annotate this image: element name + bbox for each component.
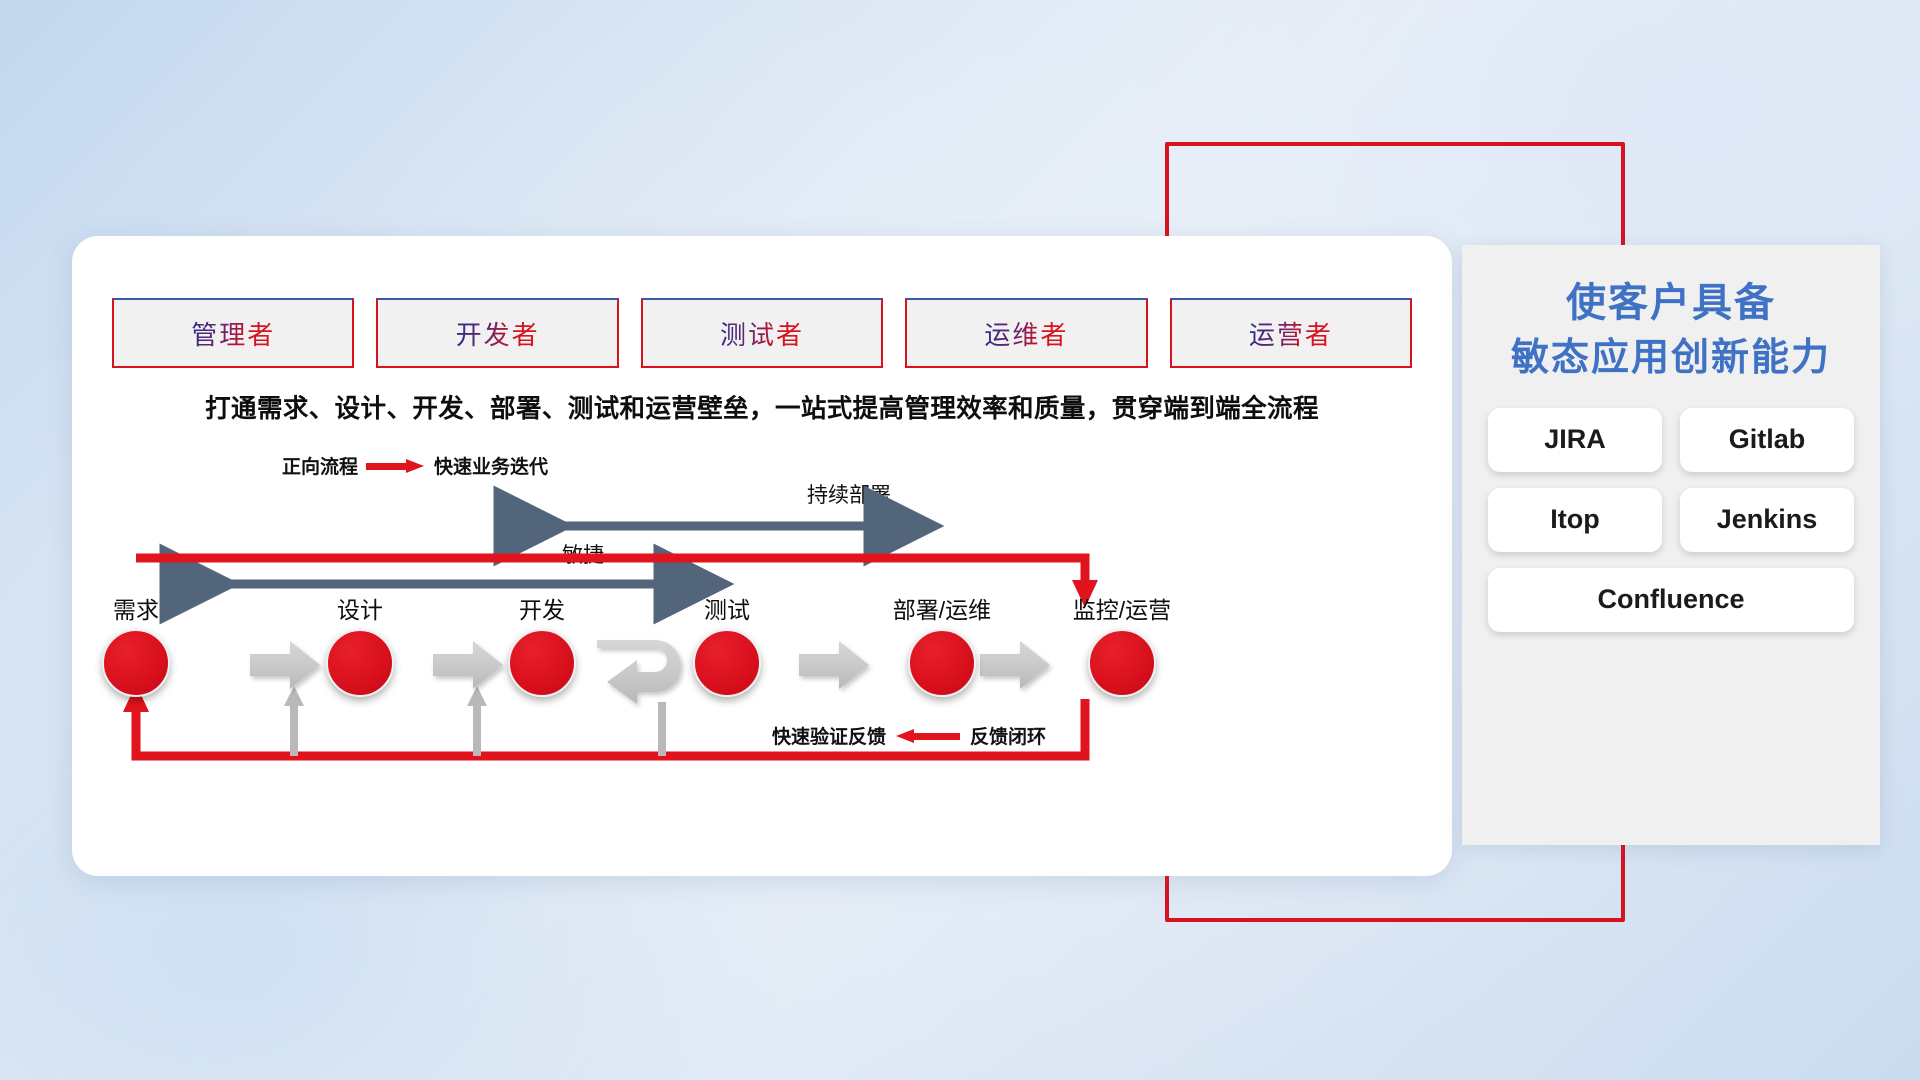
band-label-continuous-deployment: 持续部署 — [807, 479, 891, 509]
legend-forward-right-label: 快速业务迭代 — [434, 452, 548, 479]
stage-monitor-operations[interactable]: 监控/运营 — [1042, 591, 1202, 697]
stage-label: 设计 — [280, 591, 440, 625]
role-label: 开发者 — [456, 315, 540, 352]
role-label: 运营者 — [1249, 315, 1333, 352]
stage-label: 部署/运维 — [862, 591, 1022, 625]
arrow-left-red-icon — [896, 729, 960, 743]
legend-forward-flow: 正向流程 快速业务迭代 — [282, 452, 548, 479]
tool-chip-jira[interactable]: JIRA — [1488, 408, 1662, 472]
tool-chip-itop[interactable]: Itop — [1488, 488, 1662, 552]
legend-feedback-left-label: 快速验证反馈 — [772, 722, 886, 749]
stage-dot-icon — [508, 629, 576, 697]
role-box-tester[interactable]: 测试者 — [641, 298, 883, 368]
tool-chip-jenkins[interactable]: Jenkins — [1680, 488, 1854, 552]
tool-chip-list: JIRA Gitlab Itop Jenkins Confluence — [1488, 408, 1854, 632]
role-box-ops[interactable]: 运维者 — [905, 298, 1147, 368]
legend-feedback-loop: 快速验证反馈 反馈闭环 — [772, 722, 1046, 749]
stage-label: 监控/运营 — [1042, 591, 1202, 625]
role-box-manager[interactable]: 管理者 — [112, 298, 354, 368]
tool-chip-confluence[interactable]: Confluence — [1488, 568, 1854, 632]
role-label: 运维者 — [984, 315, 1068, 352]
stage-label: 开发 — [462, 591, 622, 625]
stage-development[interactable]: 开发 — [462, 591, 622, 697]
tools-panel-title: 使客户具备 敏态应用创新能力 — [1488, 275, 1854, 386]
tools-title-line-2: 敏态应用创新能力 — [1488, 332, 1854, 386]
legend-feedback-right-label: 反馈闭环 — [970, 722, 1046, 749]
stage-testing[interactable]: 测试 — [647, 591, 807, 697]
role-box-list: 管理者 开发者 测试者 运维者 运营者 — [112, 298, 1412, 368]
arrow-right-red-icon — [366, 459, 426, 473]
role-box-operations[interactable]: 运营者 — [1170, 298, 1412, 368]
role-box-developer[interactable]: 开发者 — [376, 298, 618, 368]
tool-chip-label: Jenkins — [1717, 504, 1818, 535]
stage-label: 需求 — [56, 591, 216, 625]
tools-panel: 使客户具备 敏态应用创新能力 JIRA Gitlab Itop Jenkins … — [1462, 245, 1880, 845]
tool-chip-gitlab[interactable]: Gitlab — [1680, 408, 1854, 472]
role-label: 管理者 — [191, 315, 275, 352]
stage-label: 测试 — [647, 591, 807, 625]
tool-chip-label: JIRA — [1544, 424, 1606, 455]
stage-deploy-ops[interactable]: 部署/运维 — [862, 591, 1022, 697]
stage-design[interactable]: 设计 — [280, 591, 440, 697]
tool-chip-label: Itop — [1550, 504, 1599, 535]
role-label: 测试者 — [720, 315, 804, 352]
stage-list: 需求 设计 开发 测试 部署/运维 监控/运营 — [72, 591, 1452, 731]
stage-dot-icon — [693, 629, 761, 697]
tool-chip-label: Confluence — [1597, 584, 1744, 615]
band-label-agile: 敏捷 — [562, 539, 604, 569]
stage-dot-icon — [102, 629, 170, 697]
tool-chip-label: Gitlab — [1729, 424, 1806, 455]
stage-dot-icon — [326, 629, 394, 697]
stage-requirement[interactable]: 需求 — [56, 591, 216, 697]
tools-title-line-1: 使客户具备 — [1566, 281, 1776, 325]
stage-dot-icon — [908, 629, 976, 697]
devops-flow-card: 管理者 开发者 测试者 运维者 运营者 打通需求、设计、开发、部署、测试和运营壁… — [72, 236, 1452, 876]
card-description: 打通需求、设计、开发、部署、测试和运营壁垒，一站式提高管理效率和质量，贯穿端到端… — [72, 388, 1452, 425]
legend-forward-left-label: 正向流程 — [282, 452, 358, 479]
stage-dot-icon — [1088, 629, 1156, 697]
